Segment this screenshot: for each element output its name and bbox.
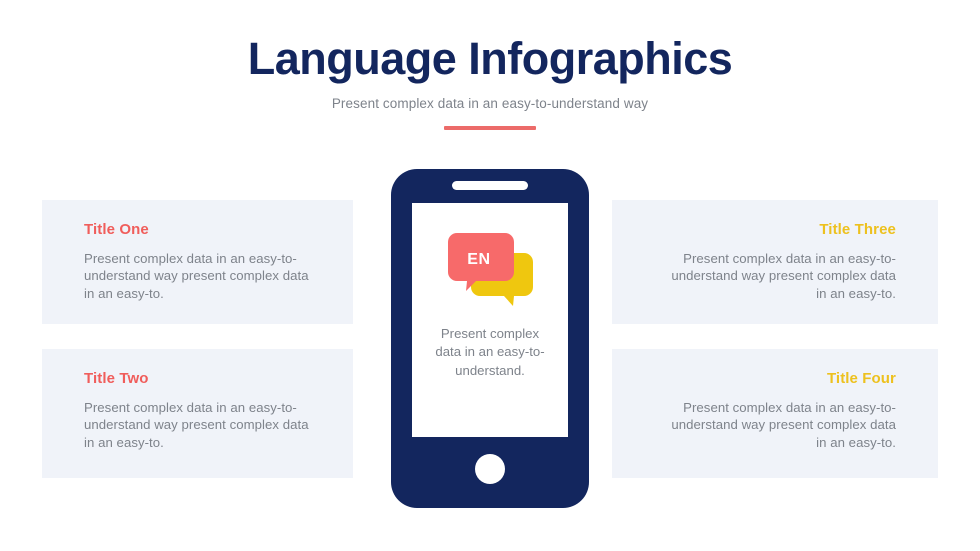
- panel-title-four-body: Present complex data in an easy-to-under…: [658, 399, 896, 453]
- panel-title-three-heading: Title Three: [652, 222, 896, 239]
- chat-bubbles-icon: EN: [444, 227, 536, 311]
- page-title: Language Infographics: [0, 36, 980, 81]
- phone-screen-text: Present complex data in an easy-to-under…: [428, 325, 552, 380]
- slide-header: Language Infographics Present complex da…: [0, 36, 980, 130]
- panel-title-three-body: Present complex data in an easy-to-under…: [658, 250, 896, 304]
- phone-mockup: EN Present complex data in an easy-to-un…: [391, 169, 589, 508]
- panel-title-two-body: Present complex data in an easy-to-under…: [84, 399, 313, 453]
- panel-title-one: Title One Present complex data in an eas…: [42, 200, 353, 324]
- page-subtitle: Present complex data in an easy-to-under…: [0, 96, 980, 112]
- accent-divider: [444, 126, 536, 130]
- infographic-slide: Language Infographics Present complex da…: [0, 0, 980, 551]
- panel-title-two: Title Two Present complex data in an eas…: [42, 349, 353, 478]
- phone-screen: EN Present complex data in an easy-to-un…: [412, 203, 568, 437]
- panel-title-four-heading: Title Four: [652, 371, 896, 388]
- panel-title-three: Title Three Present complex data in an e…: [612, 200, 938, 324]
- panel-title-one-body: Present complex data in an easy-to-under…: [84, 250, 313, 304]
- panel-title-one-heading: Title One: [84, 222, 313, 239]
- phone-speaker-slot: [452, 181, 528, 190]
- panel-title-four: Title Four Present complex data in an ea…: [612, 349, 938, 478]
- panel-title-two-heading: Title Two: [84, 371, 313, 388]
- phone-home-button[interactable]: [475, 454, 505, 484]
